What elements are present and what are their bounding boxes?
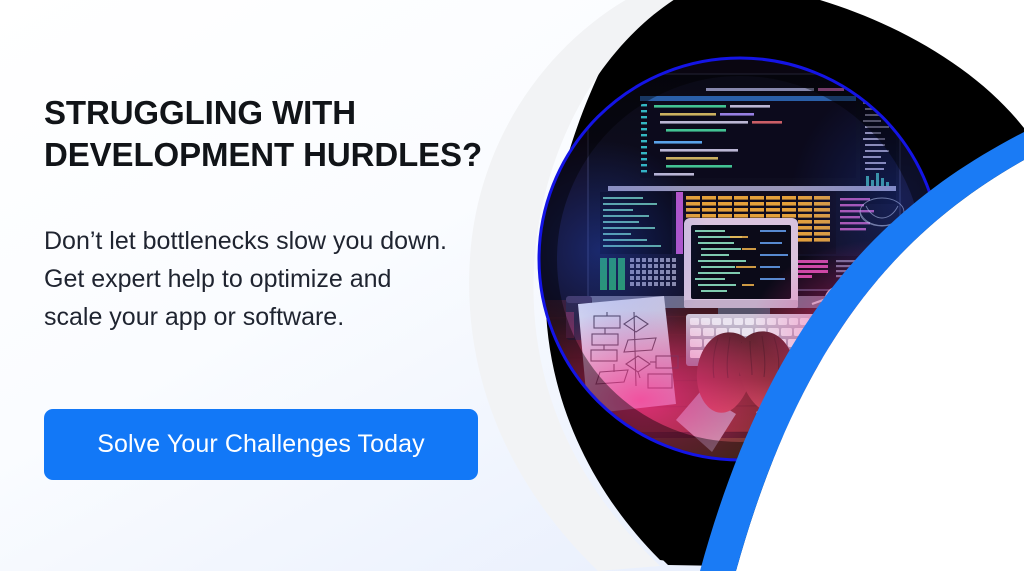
photo-ring <box>539 58 941 460</box>
spiral-notebook <box>894 300 944 358</box>
page-title: STRUGGLING WITH DEVELOPMENT HURDLES? <box>44 92 524 176</box>
subheadline-line-1: Don’t let bottlenecks slow you down. <box>44 222 539 260</box>
subheadline-line-3: scale your app or software. <box>44 298 539 336</box>
headline-line-1: STRUGGLING WITH <box>44 92 524 134</box>
hands-typing <box>676 331 814 452</box>
black-backdrop-shape <box>546 0 1024 571</box>
cta-solve-challenges-button[interactable]: Solve Your Challenges Today <box>44 409 478 480</box>
black-shape-top-curve <box>820 0 1024 128</box>
eyeglasses <box>812 276 891 309</box>
bottom-blue-arc <box>700 132 1024 571</box>
coffee-mug <box>600 308 640 352</box>
headline-line-2: DEVELOPMENT HURDLES? <box>44 134 524 176</box>
travel-tumbler <box>566 296 592 340</box>
banner-content: STRUGGLING WITH DEVELOPMENT HURDLES? Don… <box>44 0 544 571</box>
computer-mouse <box>849 318 883 376</box>
flowchart-paper <box>578 296 678 414</box>
keyboard <box>686 314 830 366</box>
hero-photo <box>490 59 1010 490</box>
bottom-white-corner <box>736 160 1024 571</box>
promo-banner: STRUGGLING WITH DEVELOPMENT HURDLES? Don… <box>0 0 1024 571</box>
black-backdrop-core <box>547 0 1024 571</box>
subheadline: Don’t let bottlenecks slow you down. Get… <box>44 222 539 336</box>
subheadline-line-2: Get expert help to optimize and <box>44 260 539 298</box>
tablet <box>684 218 798 308</box>
